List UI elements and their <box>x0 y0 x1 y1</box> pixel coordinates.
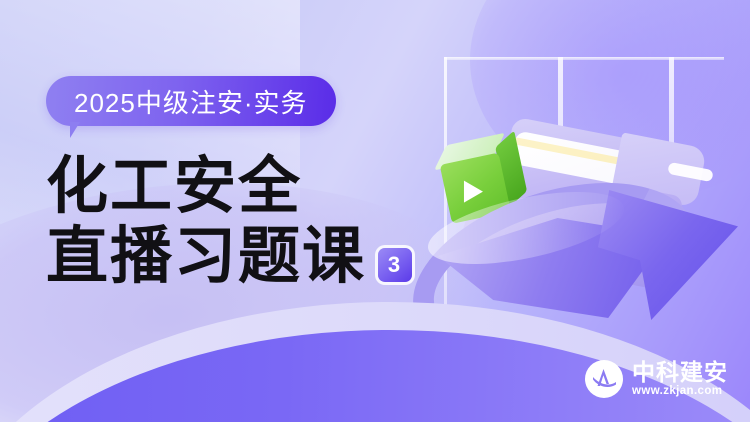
headline-line-2-row: 直播习题课 3 <box>46 222 412 292</box>
episode-number-badge: 3 <box>378 248 412 282</box>
brand-name: 中科建安 <box>632 361 728 384</box>
course-promo-banner: 2025中级注安·实务 化工安全 直播习题课 3 中科建安 www.zkjan.… <box>0 0 750 422</box>
course-tag-label: 2025中级注安·实务 <box>74 83 308 120</box>
headline-line-2: 直播习题课 <box>46 222 366 292</box>
course-tag-tail <box>70 122 80 138</box>
brand-mark-icon <box>585 360 623 398</box>
brand-text-block: 中科建安 www.zkjan.com <box>632 361 728 398</box>
play-triangle-icon <box>464 181 483 203</box>
headline-line-1-row: 化工安全 <box>46 152 412 222</box>
brand-url: www.zkjan.com <box>632 386 728 398</box>
headline-line-1: 化工安全 <box>46 152 302 222</box>
brand-logo: 中科建安 www.zkjan.com <box>585 360 728 398</box>
headline-block: 化工安全 直播习题课 3 <box>46 152 412 292</box>
course-tag-badge: 2025中级注安·实务 <box>46 76 336 126</box>
